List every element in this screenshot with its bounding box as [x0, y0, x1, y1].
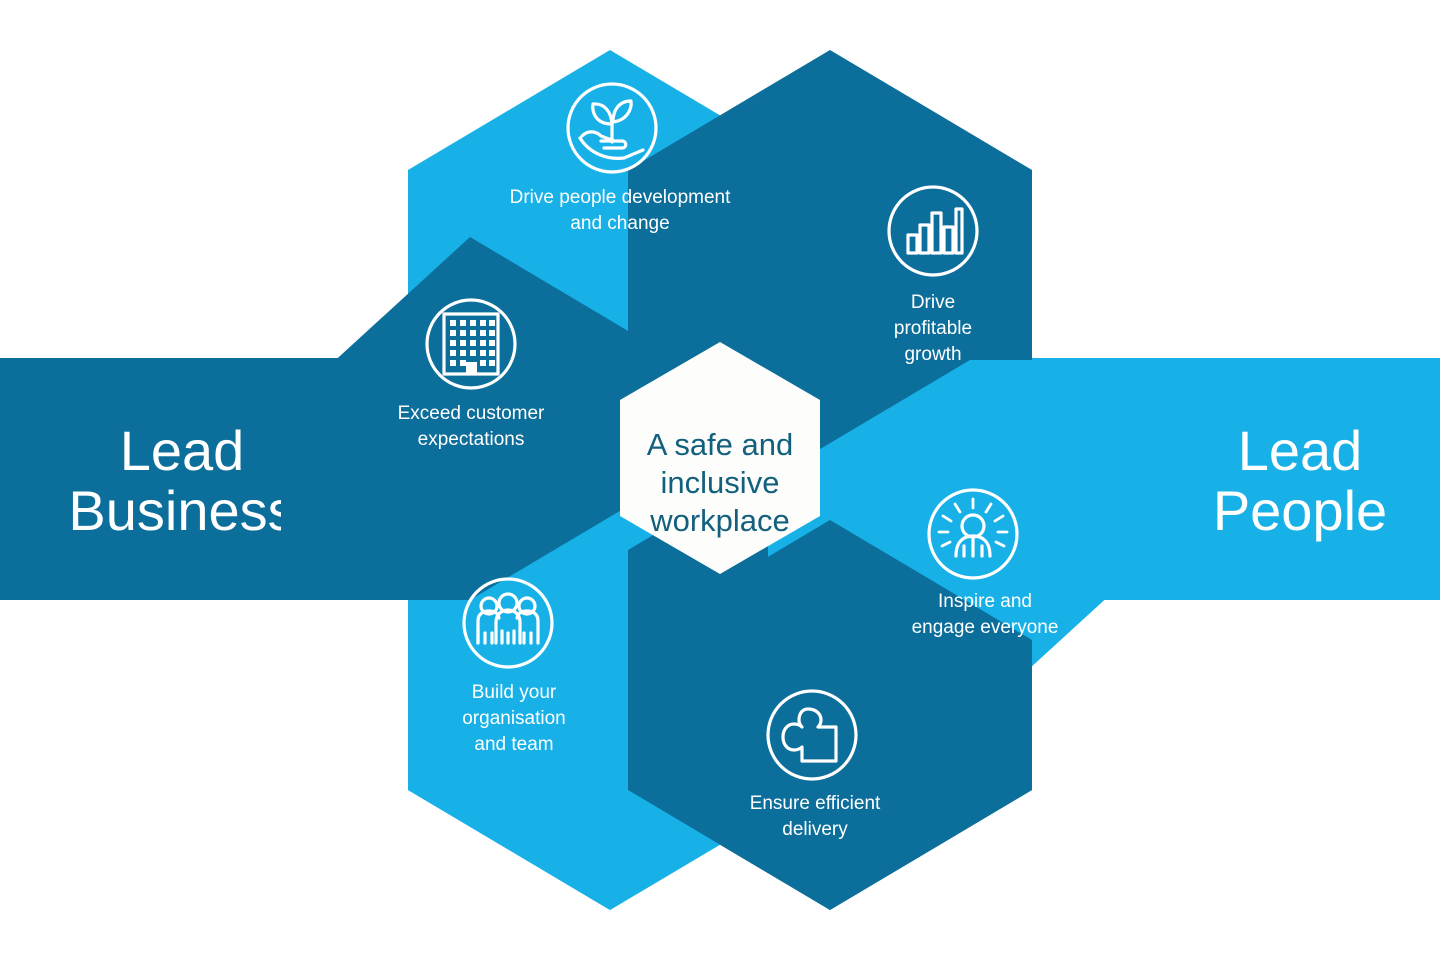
node-label-line: Inspire and: [938, 591, 1032, 612]
node-label-line: and team: [474, 734, 553, 755]
node-label-line: Ensure efficient: [750, 793, 881, 814]
node-label-line: Drive: [911, 292, 955, 313]
node-label-line: Exceed customer: [398, 403, 545, 424]
lead-business-line2: Business: [68, 479, 295, 542]
node-label-line: delivery: [782, 819, 848, 840]
center-line2: inclusive: [661, 465, 780, 500]
interlocking-hexagon-infographic: Lead Business Lead People: [0, 0, 1440, 960]
lead-business-line1: Lead: [120, 419, 245, 482]
center-line3: workplace: [649, 503, 790, 538]
node-label-line: organisation: [462, 708, 566, 729]
node-label-line: profitable: [894, 318, 972, 339]
node-label-line: growth: [904, 344, 961, 365]
center-line1: A safe and: [647, 427, 794, 462]
node-label-line: expectations: [418, 429, 525, 450]
lead-people-line1: Lead: [1238, 419, 1363, 482]
node-label-line: engage everyone: [912, 617, 1059, 638]
node-label-line: Drive people development: [510, 187, 731, 208]
node-label-line: Build your: [472, 682, 557, 703]
diagram-canvas: Lead Business Lead People: [0, 0, 1440, 960]
node-label-line: and change: [570, 213, 669, 234]
lead-people-line2: People: [1213, 479, 1387, 542]
